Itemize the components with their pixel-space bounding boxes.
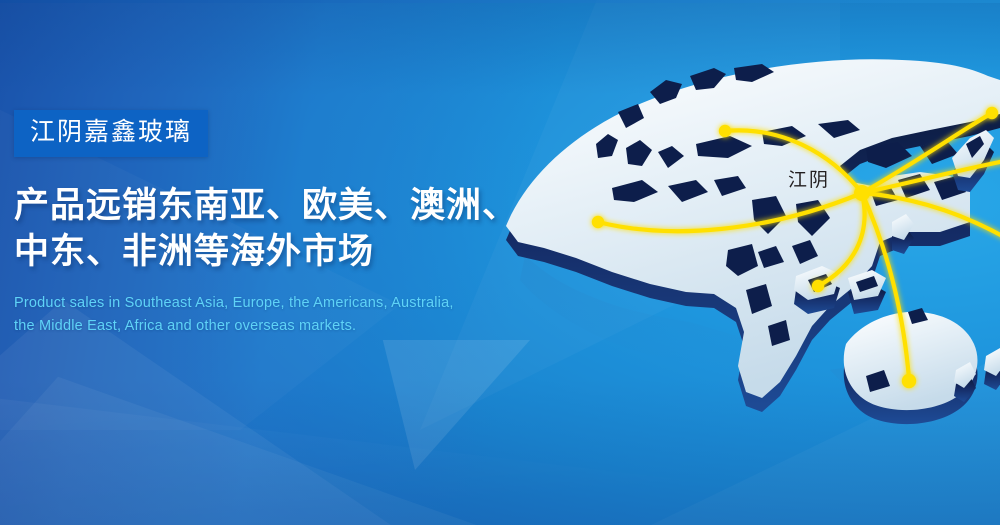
company-name-badge: 江阴嘉鑫玻璃	[14, 110, 208, 157]
endpoint-australia	[902, 374, 916, 388]
endpoint-southeast-asia	[812, 280, 824, 292]
subtitle-line-1: Product sales in Southeast Asia, Europe,…	[14, 292, 614, 315]
top-edge-line	[0, 0, 1000, 3]
hub-label-jiangyin: 江阴	[788, 169, 830, 191]
endpoint-far-east	[986, 107, 998, 119]
headline: 产品远销东南亚、欧美、澳洲、 中东、非洲等海外市场	[14, 183, 614, 275]
banner-copy: 江阴嘉鑫玻璃 产品远销东南亚、欧美、澳洲、 中东、非洲等海外市场 Product…	[14, 110, 614, 339]
subtitle-line-2: the Middle East, Africa and other overse…	[14, 315, 614, 338]
hub-point-jiangyin	[854, 185, 870, 201]
endpoint-north-europe	[719, 125, 731, 137]
subtitle: Product sales in Southeast Asia, Europe,…	[14, 292, 614, 339]
headline-line-2: 中东、非洲等海外市场	[14, 229, 614, 275]
landmass-australia	[844, 308, 978, 424]
landmass-japan	[952, 130, 994, 192]
headline-line-1: 产品远销东南亚、欧美、澳洲、	[14, 183, 614, 229]
promo-banner: 江阴 江阴嘉鑫玻璃 产品远销东南亚、欧美、澳洲、 中东、非洲等海外市场 Prod…	[0, 0, 1000, 525]
